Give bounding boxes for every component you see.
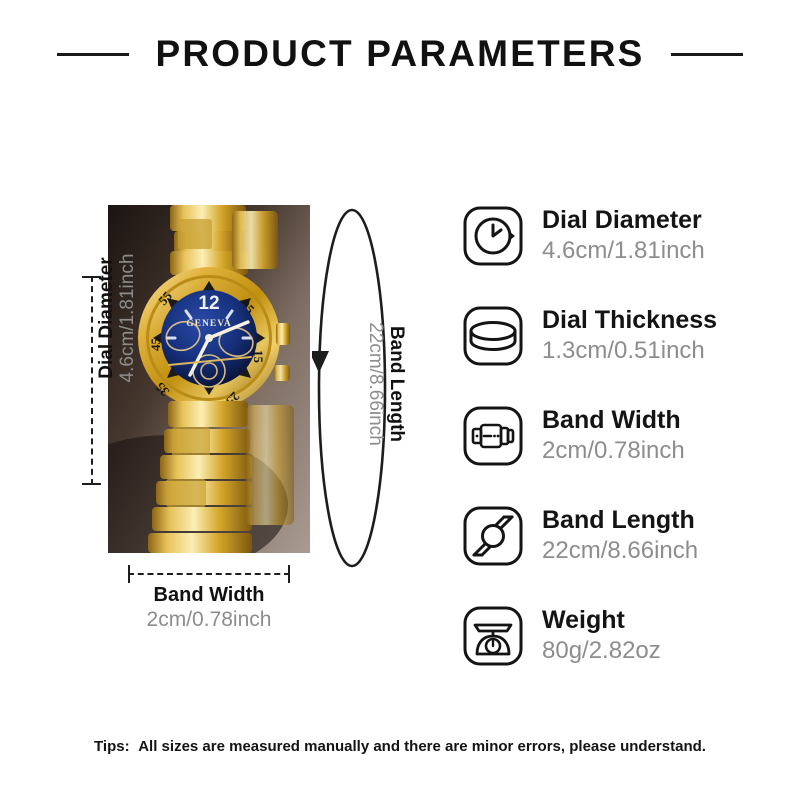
spec-list: Dial Diameter 4.6cm/1.81inch Dial Thickn… (462, 198, 762, 673)
dial-diameter-annotation-value: 4.6cm/1.81inch (117, 254, 138, 383)
horizontal-rule-left-icon (57, 53, 129, 56)
spec-label: Band Length (542, 507, 698, 535)
spec-value: 22cm/8.66inch (542, 538, 698, 564)
footer-tip-label: Tips: (94, 738, 130, 755)
page-title: PRODUCT PARAMETERS (155, 33, 644, 75)
spec-row-band-width: Band Width 2cm/0.78inch (462, 398, 762, 473)
dimension-cap-bottom (82, 483, 101, 485)
spec-value: 1.3cm/0.51inch (542, 338, 717, 364)
spec-row-band-length: Band Length 22cm/8.66inch (462, 498, 762, 573)
svg-text:45: 45 (148, 338, 163, 352)
dimension-cap-right (288, 565, 290, 583)
spec-row-dial-thickness: Dial Thickness 1.3cm/0.51inch (462, 298, 762, 373)
band-width-annotation-name: Band Width (98, 584, 320, 608)
spec-value: 80g/2.82oz (542, 638, 661, 664)
spec-value: 2cm/0.78inch (542, 438, 685, 464)
watch-dial-icon (462, 205, 524, 267)
spec-row-dial-diameter: Dial Diameter 4.6cm/1.81inch (462, 198, 762, 273)
cylinder-thickness-icon (462, 305, 524, 367)
horizontal-rule-right-icon (671, 53, 743, 56)
band-width-annotation-value: 2cm/0.78inch (98, 608, 320, 633)
spec-label: Band Width (542, 407, 685, 435)
band-width-annotation: Band Width 2cm/0.78inch (98, 584, 320, 632)
spec-text-dial-thickness: Dial Thickness 1.3cm/0.51inch (542, 307, 717, 364)
svg-text:12: 12 (198, 293, 219, 314)
spec-text-band-length: Band Length 22cm/8.66inch (542, 507, 698, 564)
band-width-dimension-line (128, 565, 290, 583)
page-header: PRODUCT PARAMETERS (0, 26, 800, 82)
spec-text-band-width: Band Width 2cm/0.78inch (542, 407, 685, 464)
spec-label: Dial Diameter (542, 207, 705, 235)
dial-diameter-annotation-name: Dial Diameter (96, 257, 117, 378)
kitchen-scale-icon (462, 605, 524, 667)
band-length-annotation-value: 22cm/8.66inch (364, 322, 385, 446)
spec-row-weight: Weight 80g/2.82oz (462, 598, 762, 673)
spec-text-weight: Weight 80g/2.82oz (542, 607, 661, 664)
band-length-annotation: Band Length 22cm/8.66inch (356, 281, 414, 487)
spec-text-dial-diameter: Dial Diameter 4.6cm/1.81inch (542, 207, 705, 264)
spec-label: Dial Thickness (542, 307, 717, 335)
watch-strap-length-icon (462, 505, 524, 567)
footer-tip-text: All sizes are measured manually and ther… (138, 738, 706, 755)
dial-diameter-annotation: Dial Diameter 4.6cm/1.81inch (89, 225, 145, 411)
watch-band-buckle-icon (462, 405, 524, 467)
band-length-annotation-name: Band Length (385, 326, 406, 442)
footer-tip: Tips: All sizes are measured manually an… (0, 738, 800, 755)
spec-value: 4.6cm/1.81inch (542, 238, 705, 264)
dimension-dashed-line (128, 573, 290, 575)
spec-label: Weight (542, 607, 661, 635)
